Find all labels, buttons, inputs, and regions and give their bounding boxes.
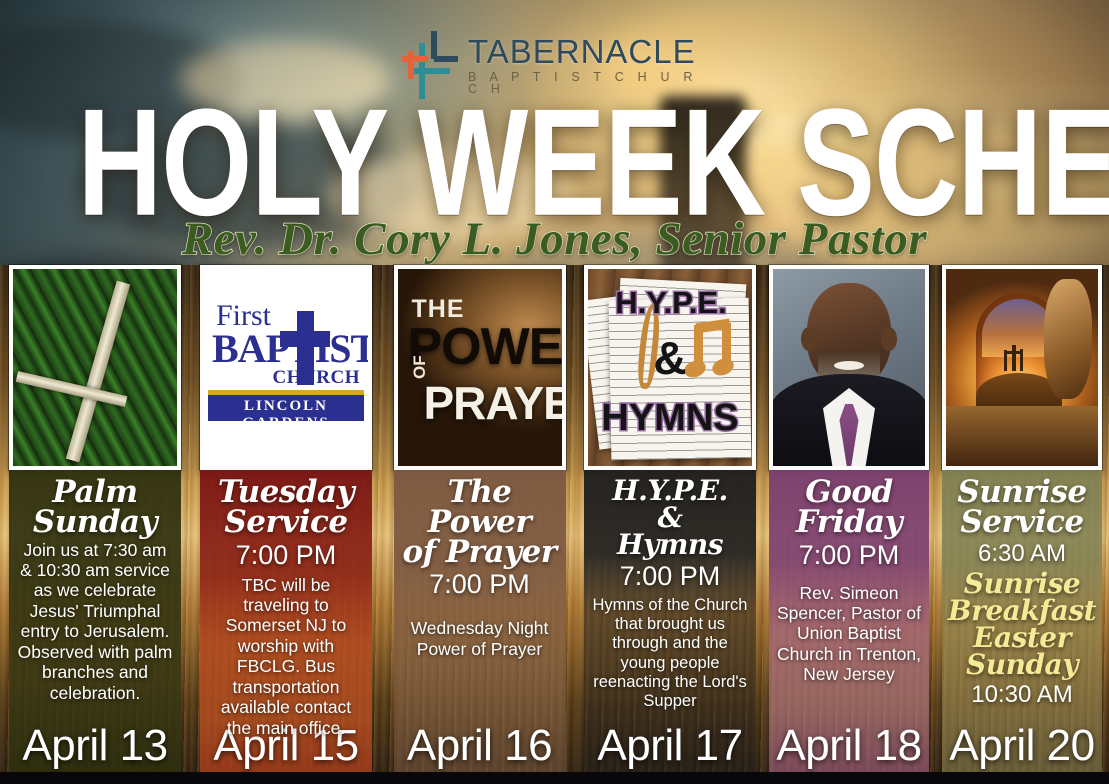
schedule-column-hype-and-hymns: H.Y.P.E. & HYMNS H.Y.P.E.&Hymns 7:00 PM …: [577, 265, 763, 784]
event-title-secondary: SunriseBreakfastEasterSunday: [947, 571, 1097, 679]
schedule-column-power-of-prayer: THE POWER OF PRAYER The Powerof Prayer 7…: [382, 265, 577, 784]
panel-good-friday: GoodFriday 7:00 PM Rev. Simeon Spencer, …: [769, 470, 929, 784]
guest-pastor-portrait-photo: [769, 265, 929, 470]
schedule-column-sunrise-service: SunriseService 6:30 AM SunriseBreakfastE…: [935, 265, 1109, 784]
event-date: April 16: [394, 724, 566, 768]
event-description: Hymns of the Church that brought us thro…: [589, 596, 751, 712]
first-baptist-lincoln-gardens-logo: First BAPTIST CHURCH LINCOLN GARDENS: [200, 265, 372, 470]
fb-church-text: CHURCH: [273, 367, 360, 389]
event-description: Rev. Simeon Spencer, Pastor of Union Bap…: [774, 583, 924, 685]
schedule-column-palm-sunday: PalmSunday Join us at 7:30 am & 10:30 am…: [0, 265, 190, 784]
event-time: 7:00 PM: [399, 569, 561, 600]
ampersand-text: &: [588, 331, 752, 385]
pop-power-text: POWER: [408, 317, 562, 377]
event-title: GoodFriday: [774, 478, 924, 538]
event-title: PalmSunday: [14, 478, 176, 538]
event-time-secondary: 10:30 AM: [947, 681, 1097, 709]
panel-hype-and-hymns: H.Y.P.E.&Hymns 7:00 PM Hymns of the Chur…: [584, 470, 756, 784]
panel-sunrise-service: SunriseService 6:30 AM SunriseBreakfastE…: [942, 470, 1102, 784]
holy-week-schedule-poster: TABERNACLE B A P T I S T C H U R C H HOL…: [0, 0, 1109, 784]
event-date: April 13: [9, 724, 181, 768]
event-description: TBC will be traveling to Somerset NJ to …: [205, 575, 367, 739]
page-title: HOLY WEEK SCHEDULE: [78, 96, 1032, 230]
schedule-column-tuesday-service: First BAPTIST CHURCH LINCOLN GARDENS: [190, 265, 382, 784]
pop-prayer-text: PRAYER: [424, 376, 562, 430]
hymns-title-text: HYMNS: [592, 397, 748, 440]
event-description: Wednesday Night Power of Prayer: [399, 618, 561, 659]
event-title: SunriseService: [947, 478, 1097, 538]
panel-palm-sunday: PalmSunday Join us at 7:30 am & 10:30 am…: [9, 470, 181, 784]
event-time: 7:00 PM: [774, 540, 924, 571]
event-title: TuesdayService: [205, 478, 367, 538]
event-time: 7:00 PM: [589, 561, 751, 592]
schedule-column-good-friday: GoodFriday 7:00 PM Rev. Simeon Spencer, …: [763, 265, 935, 784]
panel-power-of-prayer: The Powerof Prayer 7:00 PM Wednesday Nig…: [394, 470, 566, 784]
event-time: 6:30 AM: [947, 540, 1097, 568]
bottom-bar: [0, 772, 1109, 784]
hype-and-hymns-photo: H.Y.P.E. & HYMNS: [584, 265, 756, 470]
brand-name: TABERNACLE: [468, 35, 698, 68]
event-title: H.Y.P.E.&Hymns: [589, 478, 751, 559]
panel-tuesday-service: TuesdayService 7:00 PM TBC will be trave…: [200, 470, 372, 784]
event-date: April 17: [584, 724, 756, 768]
event-description: Join us at 7:30 am & 10:30 am service as…: [14, 540, 176, 704]
empty-tomb-photo: [942, 265, 1102, 470]
fb-banner-text: LINCOLN GARDENS: [204, 398, 368, 432]
event-date: April 18: [769, 724, 929, 768]
palm-cross-photo: [9, 265, 181, 470]
event-time: 7:00 PM: [205, 540, 367, 571]
hype-title-text: H.Y.P.E.: [594, 285, 748, 321]
event-title: The Powerof Prayer: [399, 478, 561, 567]
schedule-columns: PalmSunday Join us at 7:30 am & 10:30 am…: [0, 265, 1109, 784]
pastor-subtitle: Rev. Dr. Cory L. Jones, Senior Pastor: [0, 216, 1109, 263]
event-date: April 20: [942, 724, 1102, 768]
power-of-prayer-photo: THE POWER OF PRAYER: [394, 265, 566, 470]
